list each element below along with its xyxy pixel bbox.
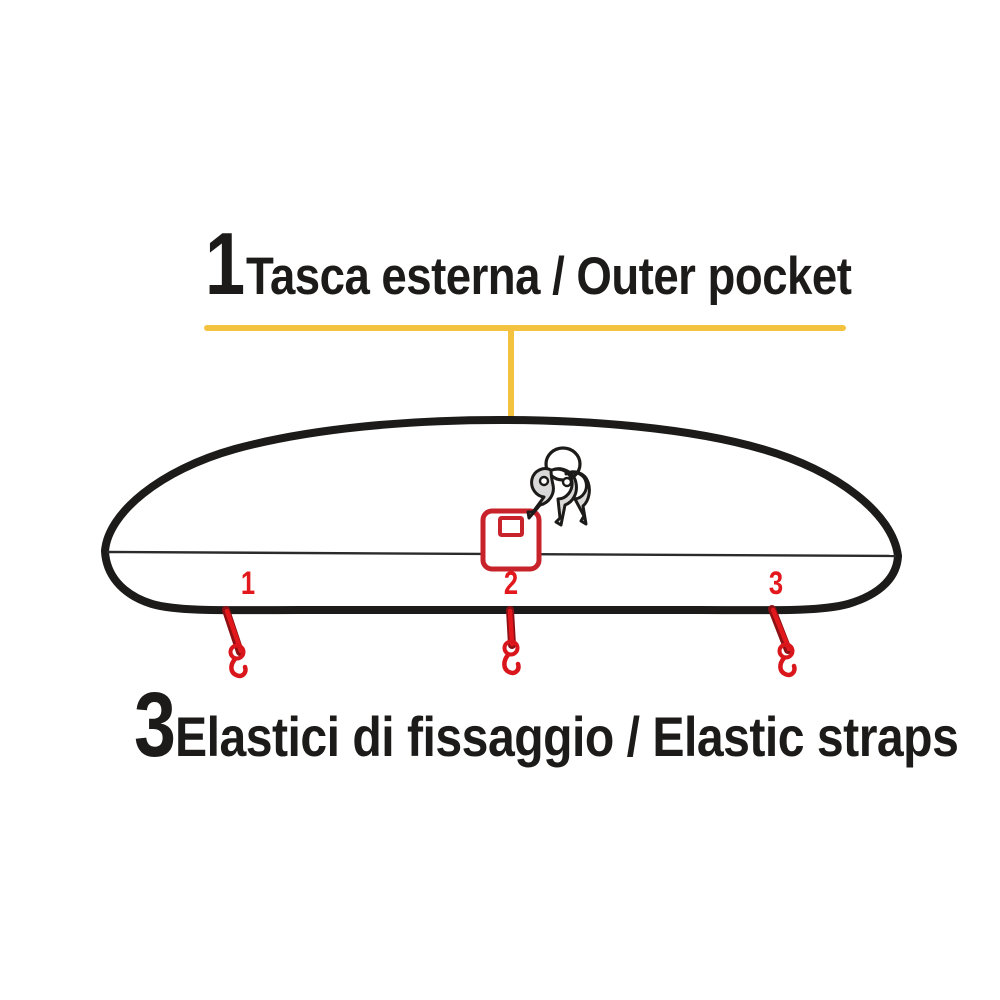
leader-line-horizontal [204, 325, 846, 331]
elastic-strap-1 [226, 610, 245, 676]
leader-endpoint-dot [496, 470, 526, 504]
callout-3-label: Elastici di fissaggio / Elastic straps [175, 709, 958, 765]
outer-pocket-plate [483, 511, 539, 569]
callout-3: 3 Elastici di fissaggio / Elastic straps [134, 683, 934, 778]
diagram-canvas: 1 Tasca esterna / Outer pocket [0, 0, 1000, 1000]
callout-3-number: 3 [134, 683, 174, 768]
elastic-strap-2 [504, 610, 518, 673]
strap-marker-1: 1 [236, 565, 260, 602]
strap-marker-2: 2 [499, 565, 523, 602]
box-seam-line [107, 552, 896, 556]
keys-icon [528, 448, 589, 525]
leader-line-vertical [508, 325, 514, 480]
roof-box-illustration [0, 0, 1000, 1000]
callout-1-number: 1 [205, 224, 244, 305]
strap-marker-3: 3 [764, 565, 788, 602]
callout-1-label: Tasca esterna / Outer pocket [246, 250, 851, 303]
lock-keyhole-icon [500, 518, 522, 535]
callout-1: 1 Tasca esterna / Outer pocket [205, 224, 865, 319]
elastic-strap-3 [772, 609, 794, 675]
